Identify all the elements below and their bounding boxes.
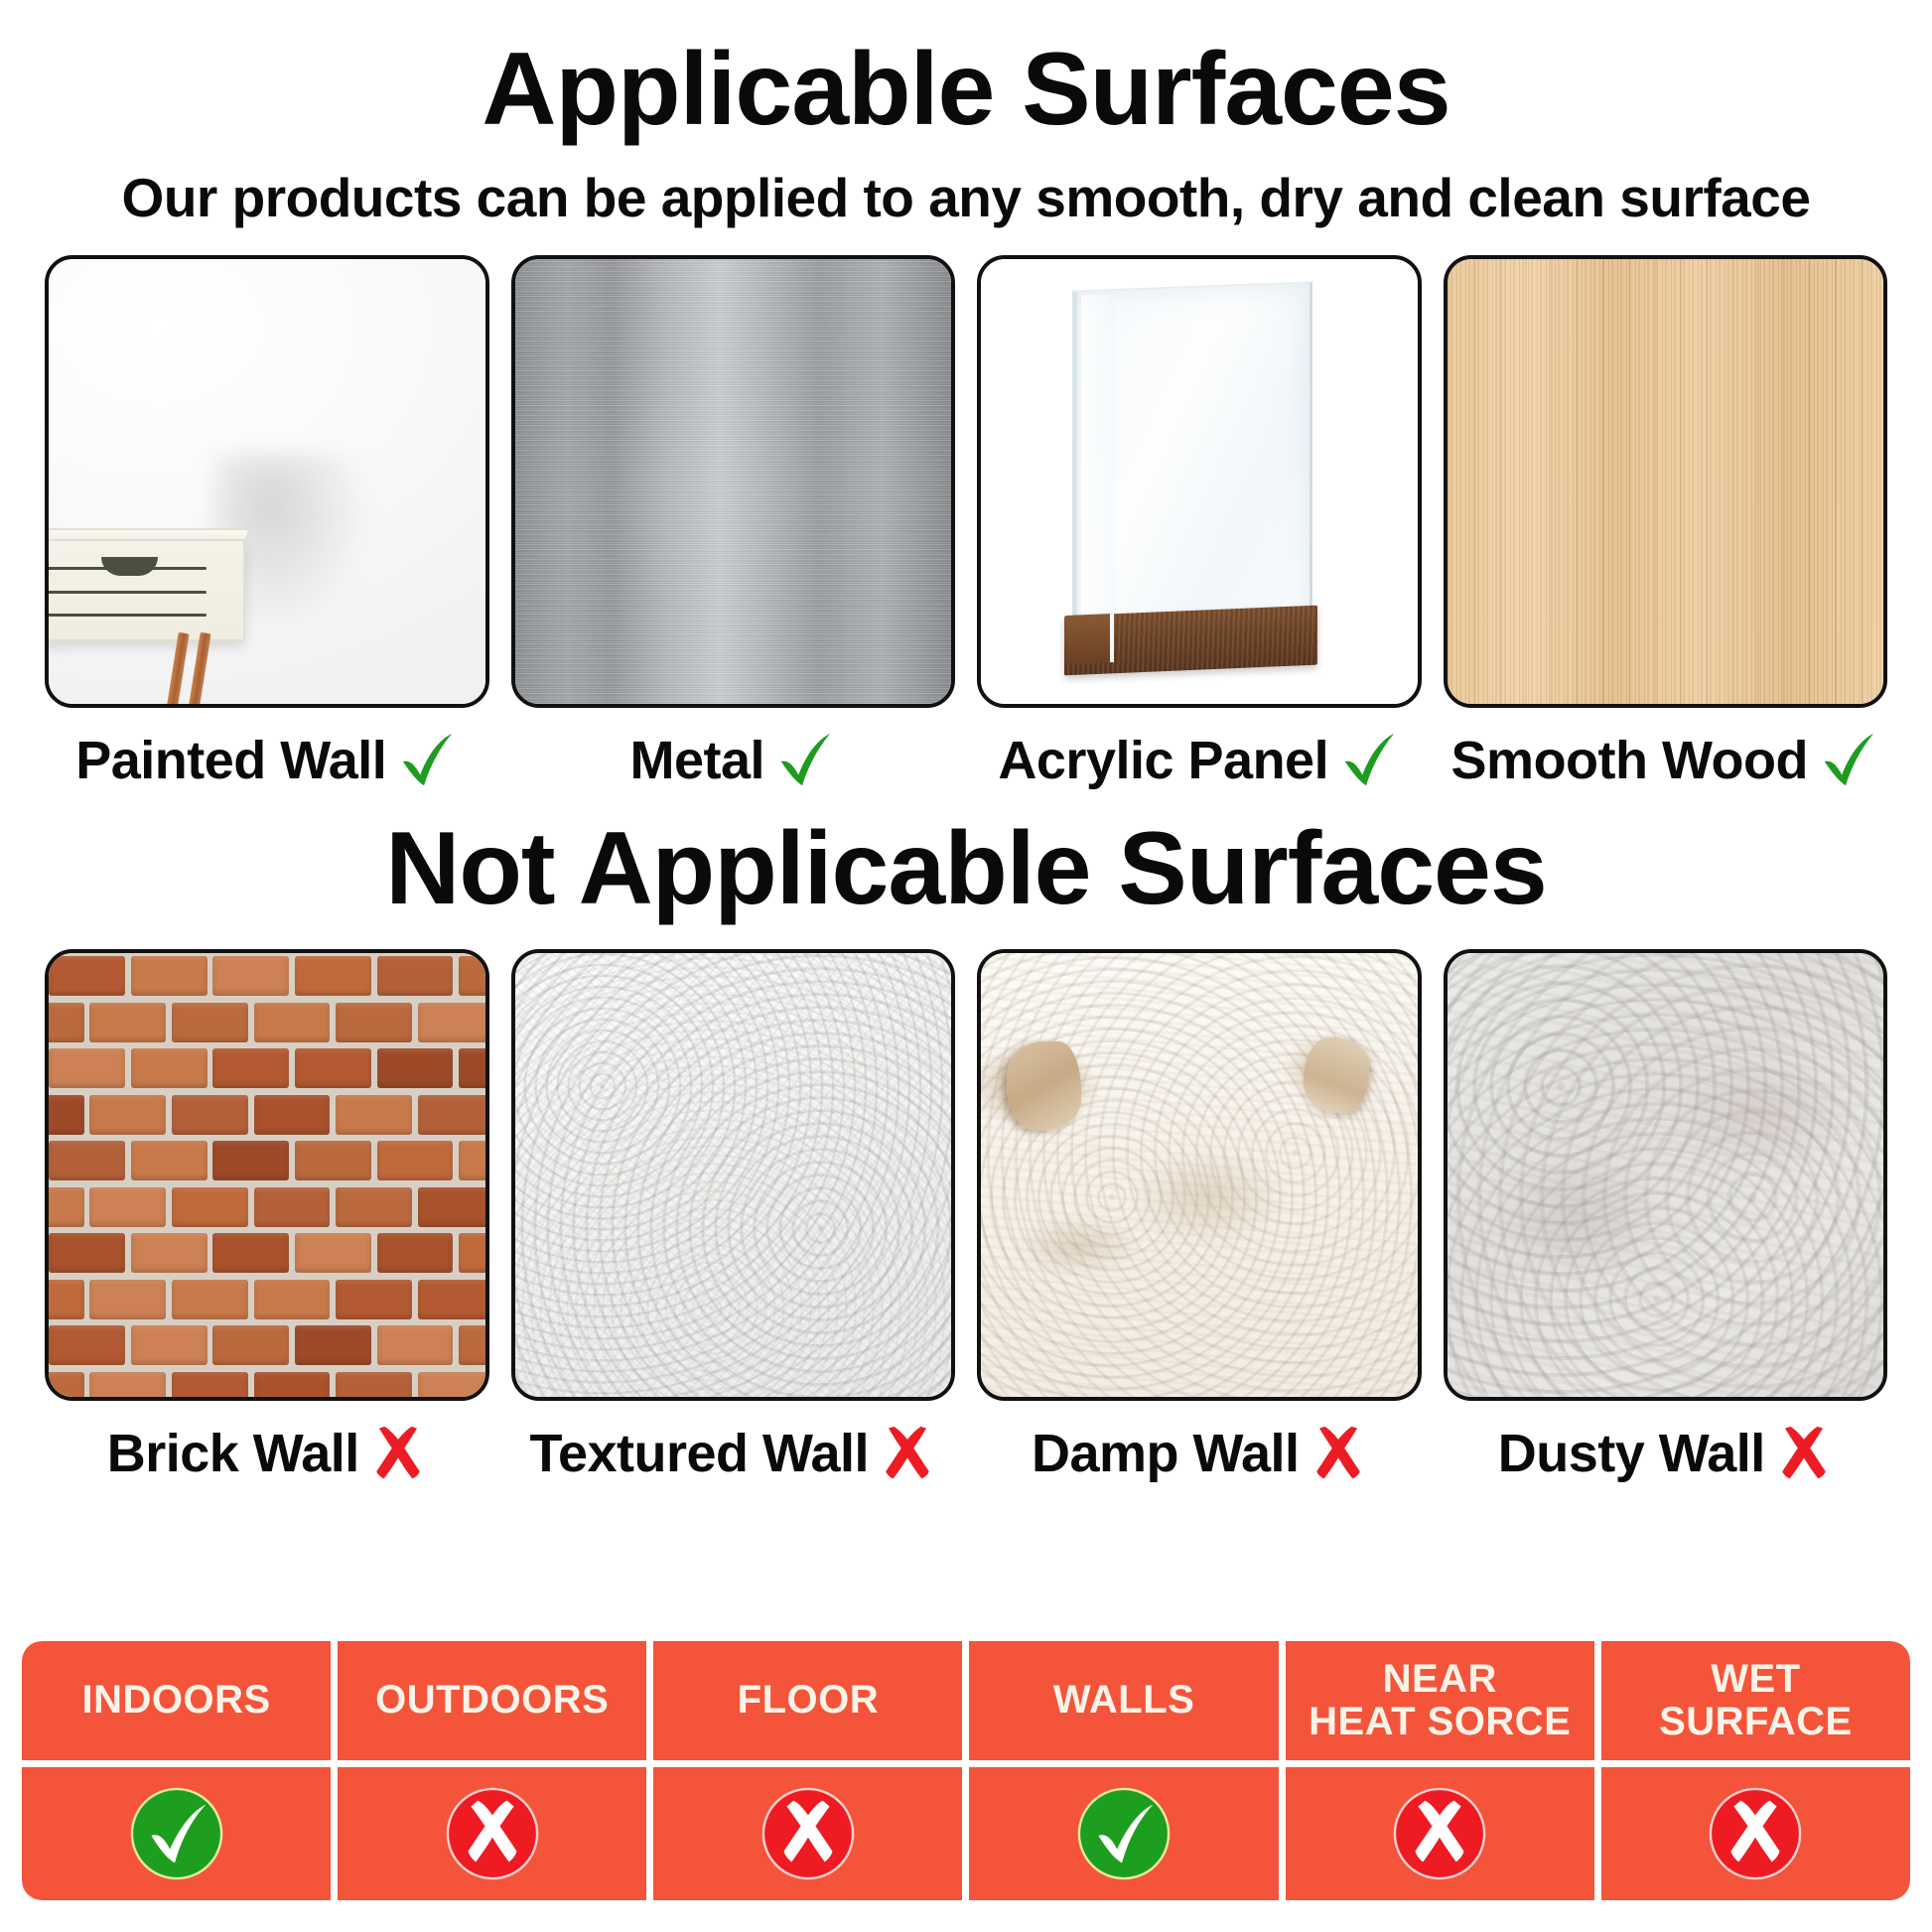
header-text-line: SURFACE [1659, 1701, 1853, 1743]
white-stucco-texture [515, 953, 952, 1398]
acrylic-panel-thumbnail [977, 255, 1422, 708]
cross-icon [369, 1425, 427, 1482]
wall-shadow [214, 455, 442, 704]
cross-badge-icon [759, 1785, 857, 1882]
acrylic-panel-texture [981, 259, 1418, 704]
acrylic-panel-caption: Acrylic Panel [977, 722, 1422, 799]
base-slot [1066, 614, 1114, 664]
surface-label: Textured Wall [529, 1423, 869, 1484]
acrylic-gloss-highlight [1081, 294, 1116, 632]
surface-label: Damp Wall [1032, 1423, 1300, 1484]
metal-caption: Metal [511, 722, 956, 799]
peeling-paint-patch [1007, 1041, 1081, 1131]
metal-thumbnail [511, 255, 956, 708]
header-text-line: OUTDOORS [375, 1679, 609, 1722]
table-leg [185, 632, 210, 704]
cross-badge-icon [444, 1785, 541, 1882]
header-text-line: INDOORS [81, 1679, 270, 1722]
usage-header-near-heat-sorce: NEAR HEAT SORCE [1286, 1641, 1594, 1760]
header-text-line: WALLS [1053, 1679, 1194, 1722]
cross-icon [1310, 1425, 1367, 1482]
header-text-line: HEAT SORCE [1309, 1701, 1571, 1743]
surface-label: Acrylic Panel [998, 730, 1328, 791]
usage-header-wet-surface: WET SURFACE [1601, 1641, 1910, 1760]
usage-table: INDOORS OUTDOORS FLOOR WALLS NEAR HEAT S… [22, 1641, 1910, 1900]
cross-badge-icon [1707, 1785, 1804, 1882]
header-text-line: NEAR [1309, 1658, 1571, 1701]
surface-card-acrylic-panel: Acrylic Panel [977, 255, 1422, 799]
painted-wall-thumbnail [45, 255, 489, 708]
surface-label: Dusty Wall [1498, 1423, 1765, 1484]
brick-pattern [49, 953, 485, 1398]
surface-label: Brick Wall [107, 1423, 359, 1484]
header-text-line: WET [1659, 1658, 1853, 1701]
header-text-line: FLOOR [738, 1679, 879, 1722]
painted-wall-texture [49, 259, 485, 704]
surface-card-damp-wall: Damp Wall [977, 949, 1422, 1493]
not-applicable-grid: Brick Wall Textured Wall [0, 949, 1932, 1493]
surface-card-brick-wall: Brick Wall [45, 949, 489, 1493]
cross-icon [1775, 1425, 1833, 1482]
textured-wall-caption: Textured Wall [511, 1415, 956, 1492]
surface-card-dusty-wall: Dusty Wall [1444, 949, 1888, 1493]
usage-header-outdoors: OUTDOORS [338, 1641, 646, 1760]
textured-wall-thumbnail [511, 949, 956, 1402]
cross-badge-icon [1391, 1785, 1488, 1882]
peeling-paint-patch [1304, 1037, 1369, 1113]
dusty-wall-caption: Dusty Wall [1444, 1415, 1888, 1492]
surface-card-painted-wall: Painted Wall [45, 255, 489, 799]
red-brick-texture [49, 953, 485, 1398]
console-table-body [49, 539, 245, 641]
smooth-wood-caption: Smooth Wood [1444, 722, 1888, 799]
cross-icon [879, 1425, 936, 1482]
check-icon [774, 730, 836, 791]
usage-table-status-row [22, 1767, 1910, 1900]
usage-table-header-row: INDOORS OUTDOORS FLOOR WALLS NEAR HEAT S… [22, 1641, 1910, 1760]
usage-status-indoors [22, 1767, 331, 1900]
brushed-metal-texture [515, 259, 952, 704]
check-badge-icon [128, 1785, 225, 1882]
usage-header-indoors: INDOORS [22, 1641, 331, 1760]
brick-wall-thumbnail [45, 949, 489, 1402]
check-icon [1818, 730, 1879, 791]
usage-header-floor: FLOOR [653, 1641, 962, 1760]
usage-status-floor [653, 1767, 962, 1900]
dusty-concrete-texture [1448, 953, 1884, 1398]
painted-wall-caption: Painted Wall [45, 722, 489, 799]
surface-card-textured-wall: Textured Wall [511, 949, 956, 1493]
drawer-handle-icon [101, 557, 158, 576]
check-icon [396, 730, 458, 791]
surface-label: Painted Wall [75, 730, 386, 791]
damp-plaster-texture [981, 953, 1418, 1398]
damp-wall-caption: Damp Wall [977, 1415, 1422, 1492]
check-icon [1338, 730, 1400, 791]
brick-wall-caption: Brick Wall [45, 1415, 489, 1492]
surface-label: Metal [629, 730, 764, 791]
applicable-subtitle: Our products can be applied to any smoot… [0, 166, 1932, 229]
not-applicable-title: Not Applicable Surfaces [0, 815, 1932, 923]
usage-status-walls [969, 1767, 1278, 1900]
damp-wall-thumbnail [977, 949, 1422, 1402]
usage-status-near-heat-sorce [1286, 1767, 1594, 1900]
usage-header-walls: WALLS [969, 1641, 1278, 1760]
light-oak-texture [1448, 259, 1884, 704]
check-badge-icon [1075, 1785, 1173, 1882]
applicable-grid: Painted Wall Metal [0, 255, 1932, 799]
usage-status-wet-surface [1601, 1767, 1910, 1900]
surface-card-smooth-wood: Smooth Wood [1444, 255, 1888, 799]
infographic-page: Applicable Surfaces Our products can be … [0, 0, 1932, 1932]
surface-label: Smooth Wood [1451, 730, 1808, 791]
dusty-wall-thumbnail [1444, 949, 1888, 1402]
smooth-wood-thumbnail [1444, 255, 1888, 708]
surface-card-metal: Metal [511, 255, 956, 799]
table-leg [163, 632, 189, 704]
applicable-title: Applicable Surfaces [0, 0, 1932, 144]
usage-status-outdoors [338, 1767, 646, 1900]
